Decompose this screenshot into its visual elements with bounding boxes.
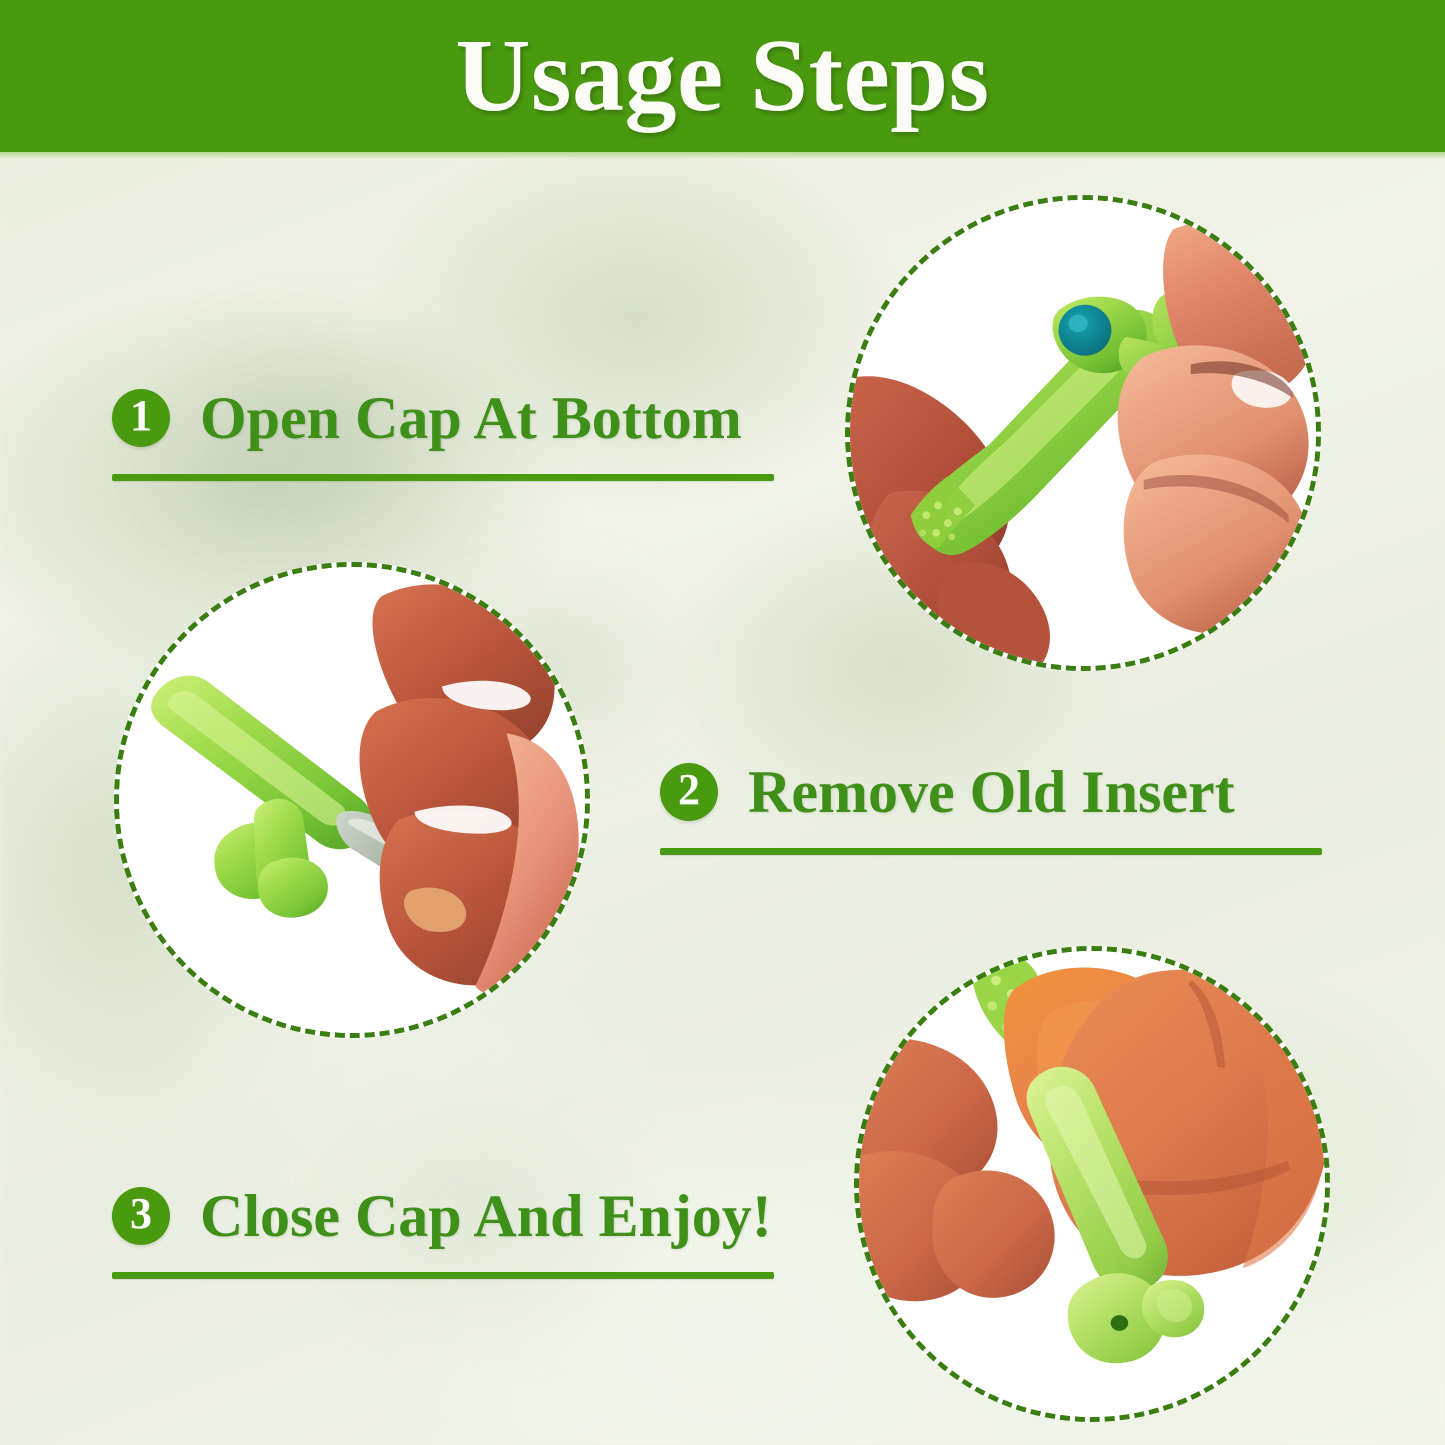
step-1-number: 1 <box>130 394 152 438</box>
step-1-row: 1 Open Cap At Bottom <box>112 388 774 448</box>
step-1-label: Open Cap At Bottom <box>200 388 742 448</box>
page-title: Usage Steps <box>455 24 989 128</box>
step-2-underline <box>660 848 1322 855</box>
step-3-number: 3 <box>130 1192 152 1236</box>
step-3-row: 3 Close Cap And Enjoy! <box>112 1186 774 1246</box>
step-1-open-cap-photo <box>845 195 1321 671</box>
step-3-label: Close Cap And Enjoy! <box>200 1186 772 1246</box>
step-2-remove-insert-photo <box>114 562 590 1038</box>
usage-steps-infographic: Usage Steps 1 Open Cap At Bottom 2 Remov… <box>0 0 1445 1445</box>
step-1: 1 Open Cap At Bottom <box>112 388 774 481</box>
header-underglow <box>0 152 1445 158</box>
step-1-underline <box>112 474 774 481</box>
step-2-label: Remove Old Insert <box>748 762 1235 822</box>
step-3-number-badge: 3 <box>112 1187 170 1245</box>
step-2-number: 2 <box>678 768 700 812</box>
header-banner: Usage Steps <box>0 0 1445 152</box>
step-3-close-cap-photo <box>854 946 1330 1422</box>
step-3-underline <box>112 1272 774 1279</box>
step-2: 2 Remove Old Insert <box>660 762 1322 855</box>
step-1-number-badge: 1 <box>112 389 170 447</box>
step-2-number-badge: 2 <box>660 763 718 821</box>
step-3: 3 Close Cap And Enjoy! <box>112 1186 774 1279</box>
step-2-row: 2 Remove Old Insert <box>660 762 1322 822</box>
